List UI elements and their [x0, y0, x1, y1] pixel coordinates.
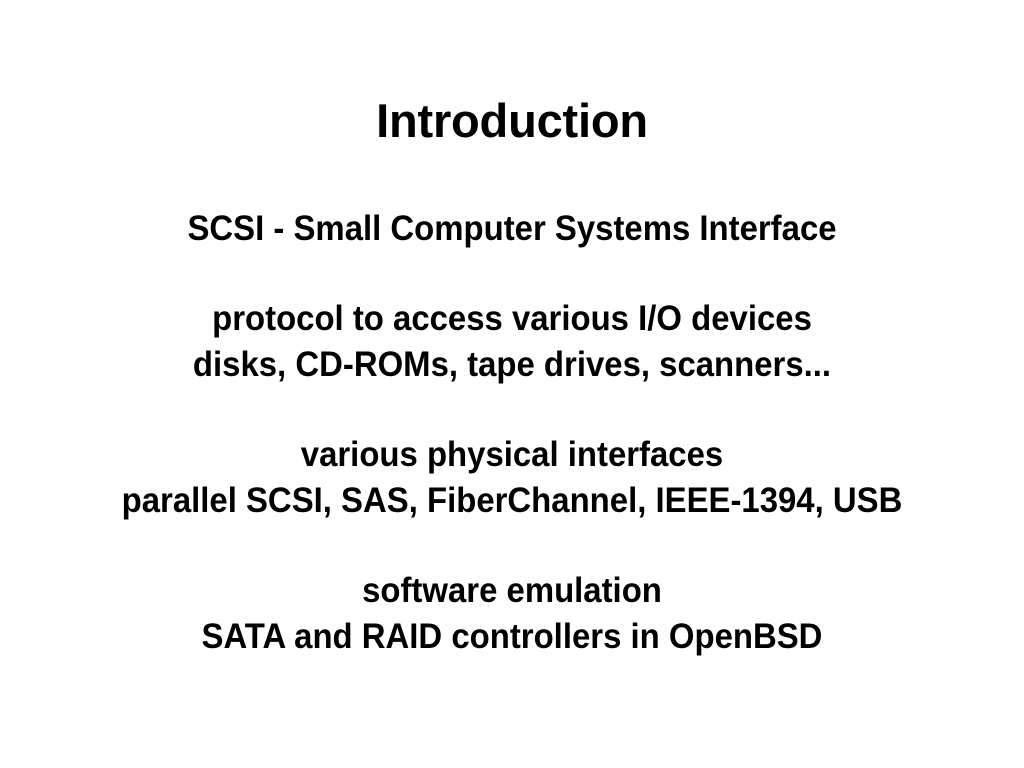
text-block-purpose: protocol to access various I/O devices d…: [0, 296, 1024, 388]
block-spacer: [0, 524, 1024, 568]
text-block-software-emulation: software emulation SATA and RAID control…: [0, 568, 1024, 660]
block-spacer: [0, 252, 1024, 296]
presentation-slide: Introduction SCSI - Small Computer Syste…: [0, 0, 1024, 768]
text-block-physical-interfaces: various physical interfaces parallel SCS…: [0, 432, 1024, 524]
body-line: software emulation: [31, 568, 994, 614]
body-line: disks, CD-ROMs, tape drives, scanners...: [31, 342, 994, 388]
body-line: SATA and RAID controllers in OpenBSD: [31, 614, 994, 660]
body-line: parallel SCSI, SAS, FiberChannel, IEEE-1…: [31, 478, 994, 524]
slide-body: SCSI - Small Computer Systems Interface …: [0, 206, 1024, 660]
body-line: SCSI - Small Computer Systems Interface: [31, 206, 994, 252]
body-line: protocol to access various I/O devices: [31, 296, 994, 342]
text-block-definition: SCSI - Small Computer Systems Interface: [0, 206, 1024, 252]
body-line: various physical interfaces: [31, 432, 994, 478]
page-title: Introduction: [0, 96, 1024, 146]
block-spacer: [0, 388, 1024, 432]
